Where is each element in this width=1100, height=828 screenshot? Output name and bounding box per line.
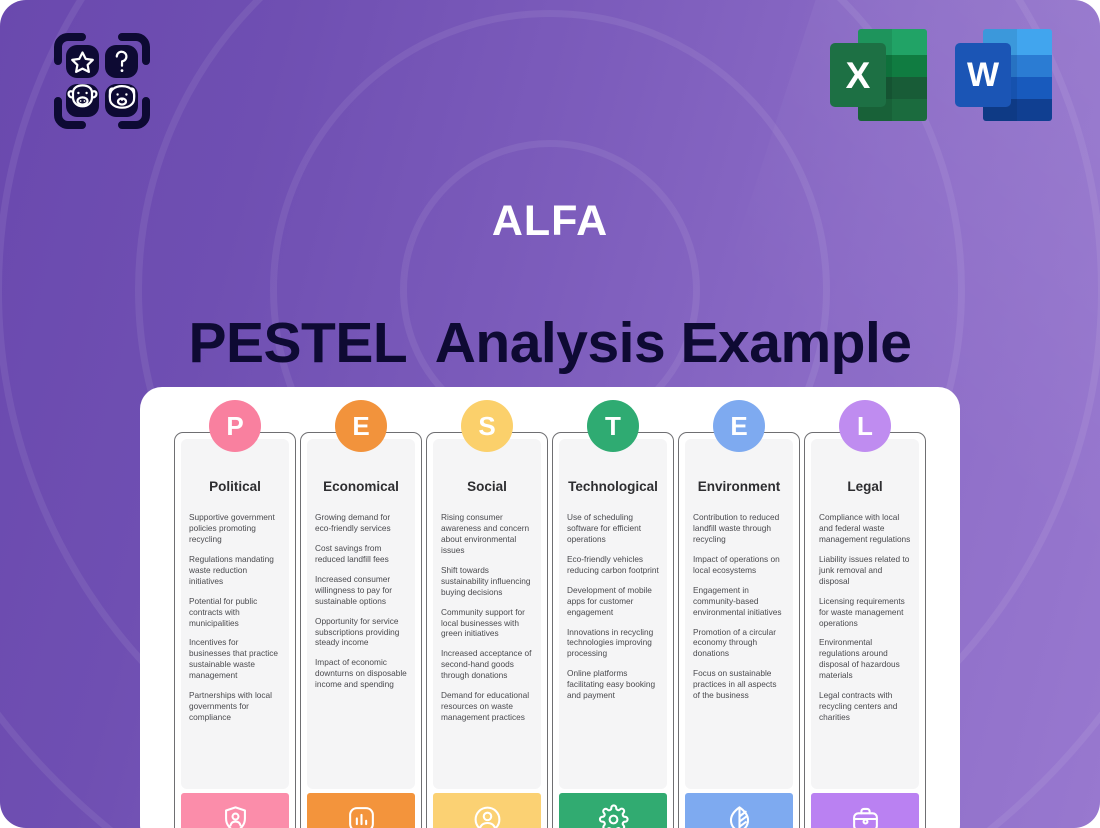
pestel-point-list: Contribution to reduced landfill waste t… (685, 512, 793, 709)
pestel-point: Rising consumer awareness and concern ab… (441, 512, 533, 556)
pestel-point: Licensing requirements for waste managem… (819, 596, 911, 629)
pestel-point: Engagement in community-based environmen… (693, 585, 785, 618)
pestel-badge-t-3: T (587, 400, 639, 452)
pestel-card-body: SocialRising consumer awareness and conc… (433, 439, 541, 789)
pestel-card-body: LegalCompliance with local and federal w… (811, 439, 919, 789)
excel-icon[interactable]: X (830, 29, 927, 121)
pestel-point: Eco-friendly vehicles reducing carbon fo… (567, 554, 659, 576)
pestel-point: Potential for public contracts with muni… (189, 596, 281, 629)
word-icon-letter: W (955, 43, 1011, 107)
pestel-point: Increased consumer willingness to pay fo… (315, 574, 407, 607)
pestel-point: Incentives for businesses that practice … (189, 637, 281, 681)
pestel-badge-letter: E (352, 413, 369, 439)
pestel-card-body: EconomicalGrowing demand for eco-friendl… (307, 439, 415, 789)
pestel-badge-p-0: P (209, 400, 261, 452)
pestel-badge-letter: S (478, 413, 495, 439)
pestel-point-list: Rising consumer awareness and concern ab… (433, 512, 541, 731)
pestel-card-political[interactable]: PPoliticalSupportive government policies… (174, 432, 296, 828)
question-mark-dot (121, 69, 124, 72)
pestel-card-legal[interactable]: LLegalCompliance with local and federal … (804, 432, 926, 828)
pestel-point: Contribution to reduced landfill waste t… (693, 512, 785, 545)
pestel-point: Increased acceptance of second-hand good… (441, 648, 533, 681)
pestel-point-list: Growing demand for eco-friendly services… (307, 512, 415, 698)
pestel-point: Impact of operations on local ecosystems (693, 554, 785, 576)
shield-person-icon[interactable] (181, 793, 289, 828)
pestel-card-technological[interactable]: TTechnologicalUse of scheduling software… (552, 432, 674, 828)
pestel-point-list: Supportive government policies promoting… (181, 512, 289, 731)
pestel-card-body: TechnologicalUse of scheduling software … (559, 439, 667, 789)
pestel-point: Legal contracts with recycling centers a… (819, 690, 911, 723)
pestel-point: Shift towards sustainability influencing… (441, 565, 533, 598)
pestel-card-body: PoliticalSupportive government policies … (181, 439, 289, 789)
pestel-point: Innovations in recycling technologies im… (567, 627, 659, 660)
pestel-card-environment[interactable]: EEnvironmentContribution to reduced land… (678, 432, 800, 828)
pestel-point: Development of mobile apps for customer … (567, 585, 659, 618)
pestel-point: Impact of economic downturns on disposab… (315, 657, 407, 690)
briefcase-icon[interactable] (811, 793, 919, 828)
pestel-card-economical[interactable]: EEconomicalGrowing demand for eco-friend… (300, 432, 422, 828)
pestel-point: Demand for educational resources on wast… (441, 690, 533, 723)
leaf-icon[interactable] (685, 793, 793, 828)
pestel-badge-letter: P (226, 413, 243, 439)
pestel-point: Supportive government policies promoting… (189, 512, 281, 545)
page-title: PESTEL Analysis Example (0, 310, 1100, 376)
pestel-point: Environmental regulations around disposa… (819, 637, 911, 681)
pestel-point: Community support for local businesses w… (441, 607, 533, 640)
pestel-point: Growing demand for eco-friendly services (315, 512, 407, 534)
pestel-columns: PPoliticalSupportive government policies… (174, 432, 926, 828)
pestel-point: Cost savings from reduced landfill fees (315, 543, 407, 565)
pestel-point: Liability issues related to junk removal… (819, 554, 911, 587)
pestel-badge-letter: E (730, 413, 747, 439)
pestel-panel: PPoliticalSupportive government policies… (140, 387, 960, 828)
pestel-badge-letter: T (605, 413, 621, 439)
pestel-badge-e-1: E (335, 400, 387, 452)
pestel-badge-letter: L (857, 413, 873, 439)
gear-icon[interactable] (559, 793, 667, 828)
pestel-point: Compliance with local and federal waste … (819, 512, 911, 545)
pestel-point: Use of scheduling software for efficient… (567, 512, 659, 545)
word-icon[interactable]: W (955, 29, 1052, 121)
bar-chart-icon[interactable] (307, 793, 415, 828)
excel-icon-letter: X (830, 43, 886, 107)
pestel-point-list: Use of scheduling software for efficient… (559, 512, 667, 709)
pestel-point: Online platforms facilitating easy booki… (567, 668, 659, 701)
pestel-badge-l-5: L (839, 400, 891, 452)
pestel-badge-s-2: S (461, 400, 513, 452)
pestel-point-list: Compliance with local and federal waste … (811, 512, 919, 731)
pestel-card-social[interactable]: SSocialRising consumer awareness and con… (426, 432, 548, 828)
poster-page: X W ALFA PESTEL Analysis Example PPoliti… (0, 0, 1100, 828)
pestel-point: Focus on sustainable practices in all as… (693, 668, 785, 701)
person-circle-icon[interactable] (433, 793, 541, 828)
pestel-point: Partnerships with local governments for … (189, 690, 281, 723)
brand-logo (52, 31, 152, 131)
pestel-card-body: EnvironmentContribution to reduced landf… (685, 439, 793, 789)
office-app-icons: X W (830, 29, 1052, 121)
pestel-point: Regulations mandating waste reduction in… (189, 554, 281, 587)
pestel-badge-e-4: E (713, 400, 765, 452)
pestel-point: Promotion of a circular economy through … (693, 627, 785, 660)
pestel-point: Opportunity for service subscriptions pr… (315, 616, 407, 649)
brand-name: ALFA (0, 197, 1100, 246)
